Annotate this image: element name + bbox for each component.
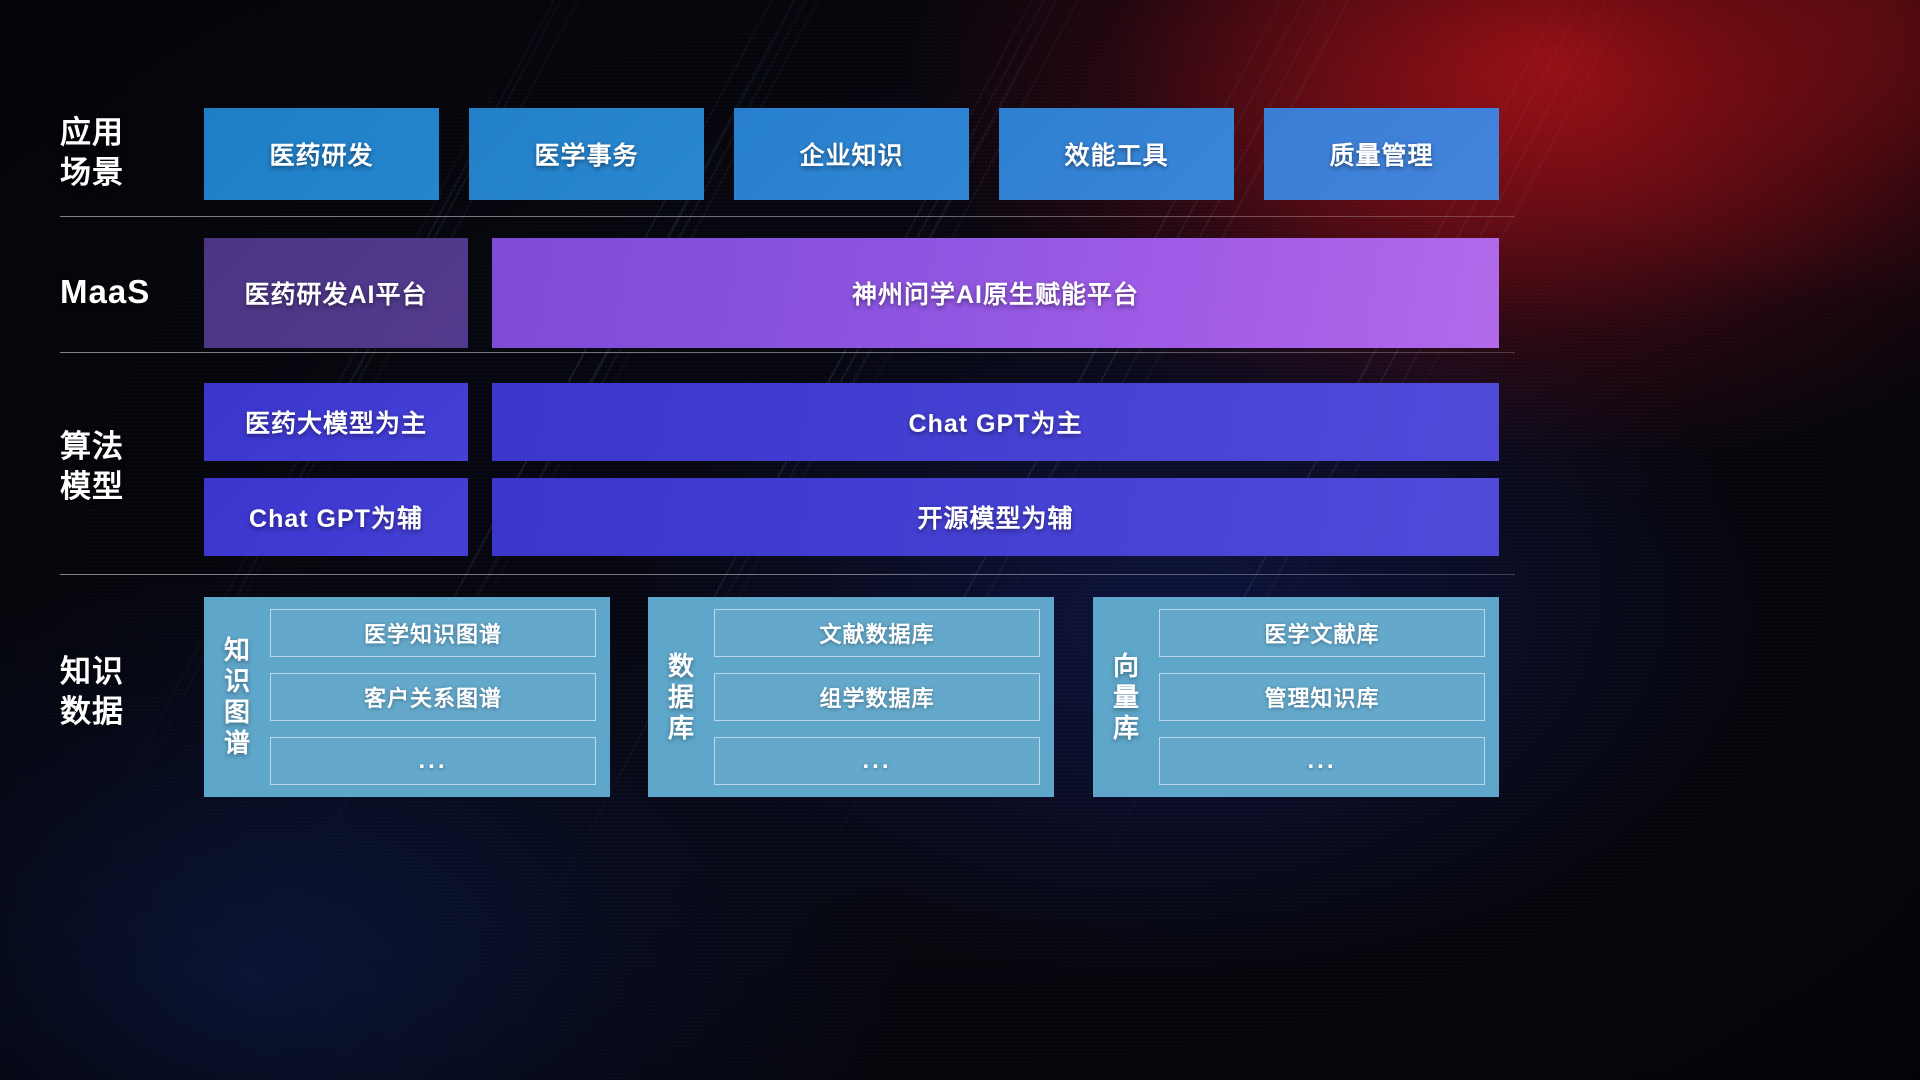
divider-2 (60, 352, 1515, 353)
row-label-line: 模型 (60, 467, 190, 507)
algo-box-chatgpt-secondary[interactable]: Chat GPT为辅 (204, 478, 468, 556)
app-box-1[interactable]: 医药研发 (204, 108, 439, 200)
app-box-2[interactable]: 医学事务 (469, 108, 704, 200)
algo-box-label: Chat GPT为主 (909, 404, 1083, 440)
row-label-line: 应用 (60, 113, 190, 153)
title-char: 知 (214, 635, 260, 666)
app-box-5[interactable]: 质量管理 (1264, 108, 1499, 200)
app-box-4[interactable]: 效能工具 (999, 108, 1234, 200)
knowledge-panel-database[interactable]: 数 据 库 文献数据库 组学数据库 ... (648, 597, 1054, 797)
knowledge-panel-vector-store[interactable]: 向 量 库 医学文献库 管理知识库 ... (1093, 597, 1499, 797)
app-box-label: 质量管理 (1329, 136, 1433, 172)
title-char: 识 (214, 666, 260, 697)
divider-1 (60, 216, 1515, 217)
knowledge-panel-title: 数 据 库 (658, 651, 704, 744)
title-char: 库 (658, 713, 704, 744)
knowledge-item-more[interactable]: ... (1159, 737, 1485, 785)
row-label-knowledge-data: 知识 数据 (60, 652, 190, 732)
algo-box-opensource-secondary[interactable]: 开源模型为辅 (492, 478, 1499, 556)
knowledge-item[interactable]: 医学知识图谱 (270, 609, 596, 657)
architecture-diagram: 应用 场景 医药研发 医学事务 企业知识 效能工具 质量管理 MaaS 医药研发… (0, 0, 1920, 1080)
row-label-line: 算法 (60, 427, 190, 467)
knowledge-item[interactable]: 医学文献库 (1159, 609, 1485, 657)
row-label-line: MaaS (60, 272, 190, 312)
knowledge-panel-items: 文献数据库 组学数据库 ... (714, 609, 1040, 785)
app-box-label: 效能工具 (1064, 136, 1168, 172)
maas-box-label: 神州问学AI原生赋能平台 (852, 275, 1139, 311)
knowledge-item-more[interactable]: ... (714, 737, 1040, 785)
row-label-maas: MaaS (60, 272, 190, 312)
app-box-3[interactable]: 企业知识 (734, 108, 969, 200)
title-char: 库 (1103, 713, 1149, 744)
row-label-algorithm-model: 算法 模型 (60, 427, 190, 507)
title-char: 谱 (214, 728, 260, 759)
row-label-line: 数据 (60, 692, 190, 732)
knowledge-panel-title: 向 量 库 (1103, 651, 1149, 744)
knowledge-panel-knowledge-graph[interactable]: 知 识 图 谱 医学知识图谱 客户关系图谱 ... (204, 597, 610, 797)
maas-box-label: 医药研发AI平台 (244, 275, 427, 311)
algo-box-drug-model-primary[interactable]: 医药大模型为主 (204, 383, 468, 461)
maas-box-shenzhou-platform[interactable]: 神州问学AI原生赋能平台 (492, 238, 1499, 348)
title-char: 数 (658, 651, 704, 682)
app-box-label: 企业知识 (799, 136, 903, 172)
row-label-line: 知识 (60, 652, 190, 692)
knowledge-panel-items: 医学文献库 管理知识库 ... (1159, 609, 1485, 785)
title-char: 图 (214, 697, 260, 728)
app-box-label: 医学事务 (534, 136, 638, 172)
knowledge-panel-items: 医学知识图谱 客户关系图谱 ... (270, 609, 596, 785)
knowledge-item[interactable]: 管理知识库 (1159, 673, 1485, 721)
knowledge-item-more[interactable]: ... (270, 737, 596, 785)
divider-3 (60, 574, 1515, 575)
title-char: 向 (1103, 651, 1149, 682)
algo-box-label: 医药大模型为主 (245, 404, 427, 440)
knowledge-item[interactable]: 客户关系图谱 (270, 673, 596, 721)
algo-box-label: 开源模型为辅 (917, 499, 1073, 535)
algo-box-label: Chat GPT为辅 (249, 499, 423, 535)
knowledge-item[interactable]: 组学数据库 (714, 673, 1040, 721)
title-char: 据 (658, 682, 704, 713)
knowledge-item[interactable]: 文献数据库 (714, 609, 1040, 657)
row-label-application-scenarios: 应用 场景 (60, 113, 190, 193)
title-char: 量 (1103, 682, 1149, 713)
algo-box-chatgpt-primary[interactable]: Chat GPT为主 (492, 383, 1499, 461)
maas-box-drug-rd-platform[interactable]: 医药研发AI平台 (204, 238, 468, 348)
knowledge-panel-title: 知 识 图 谱 (214, 635, 260, 759)
app-box-label: 医药研发 (269, 136, 373, 172)
row-label-line: 场景 (60, 153, 190, 193)
